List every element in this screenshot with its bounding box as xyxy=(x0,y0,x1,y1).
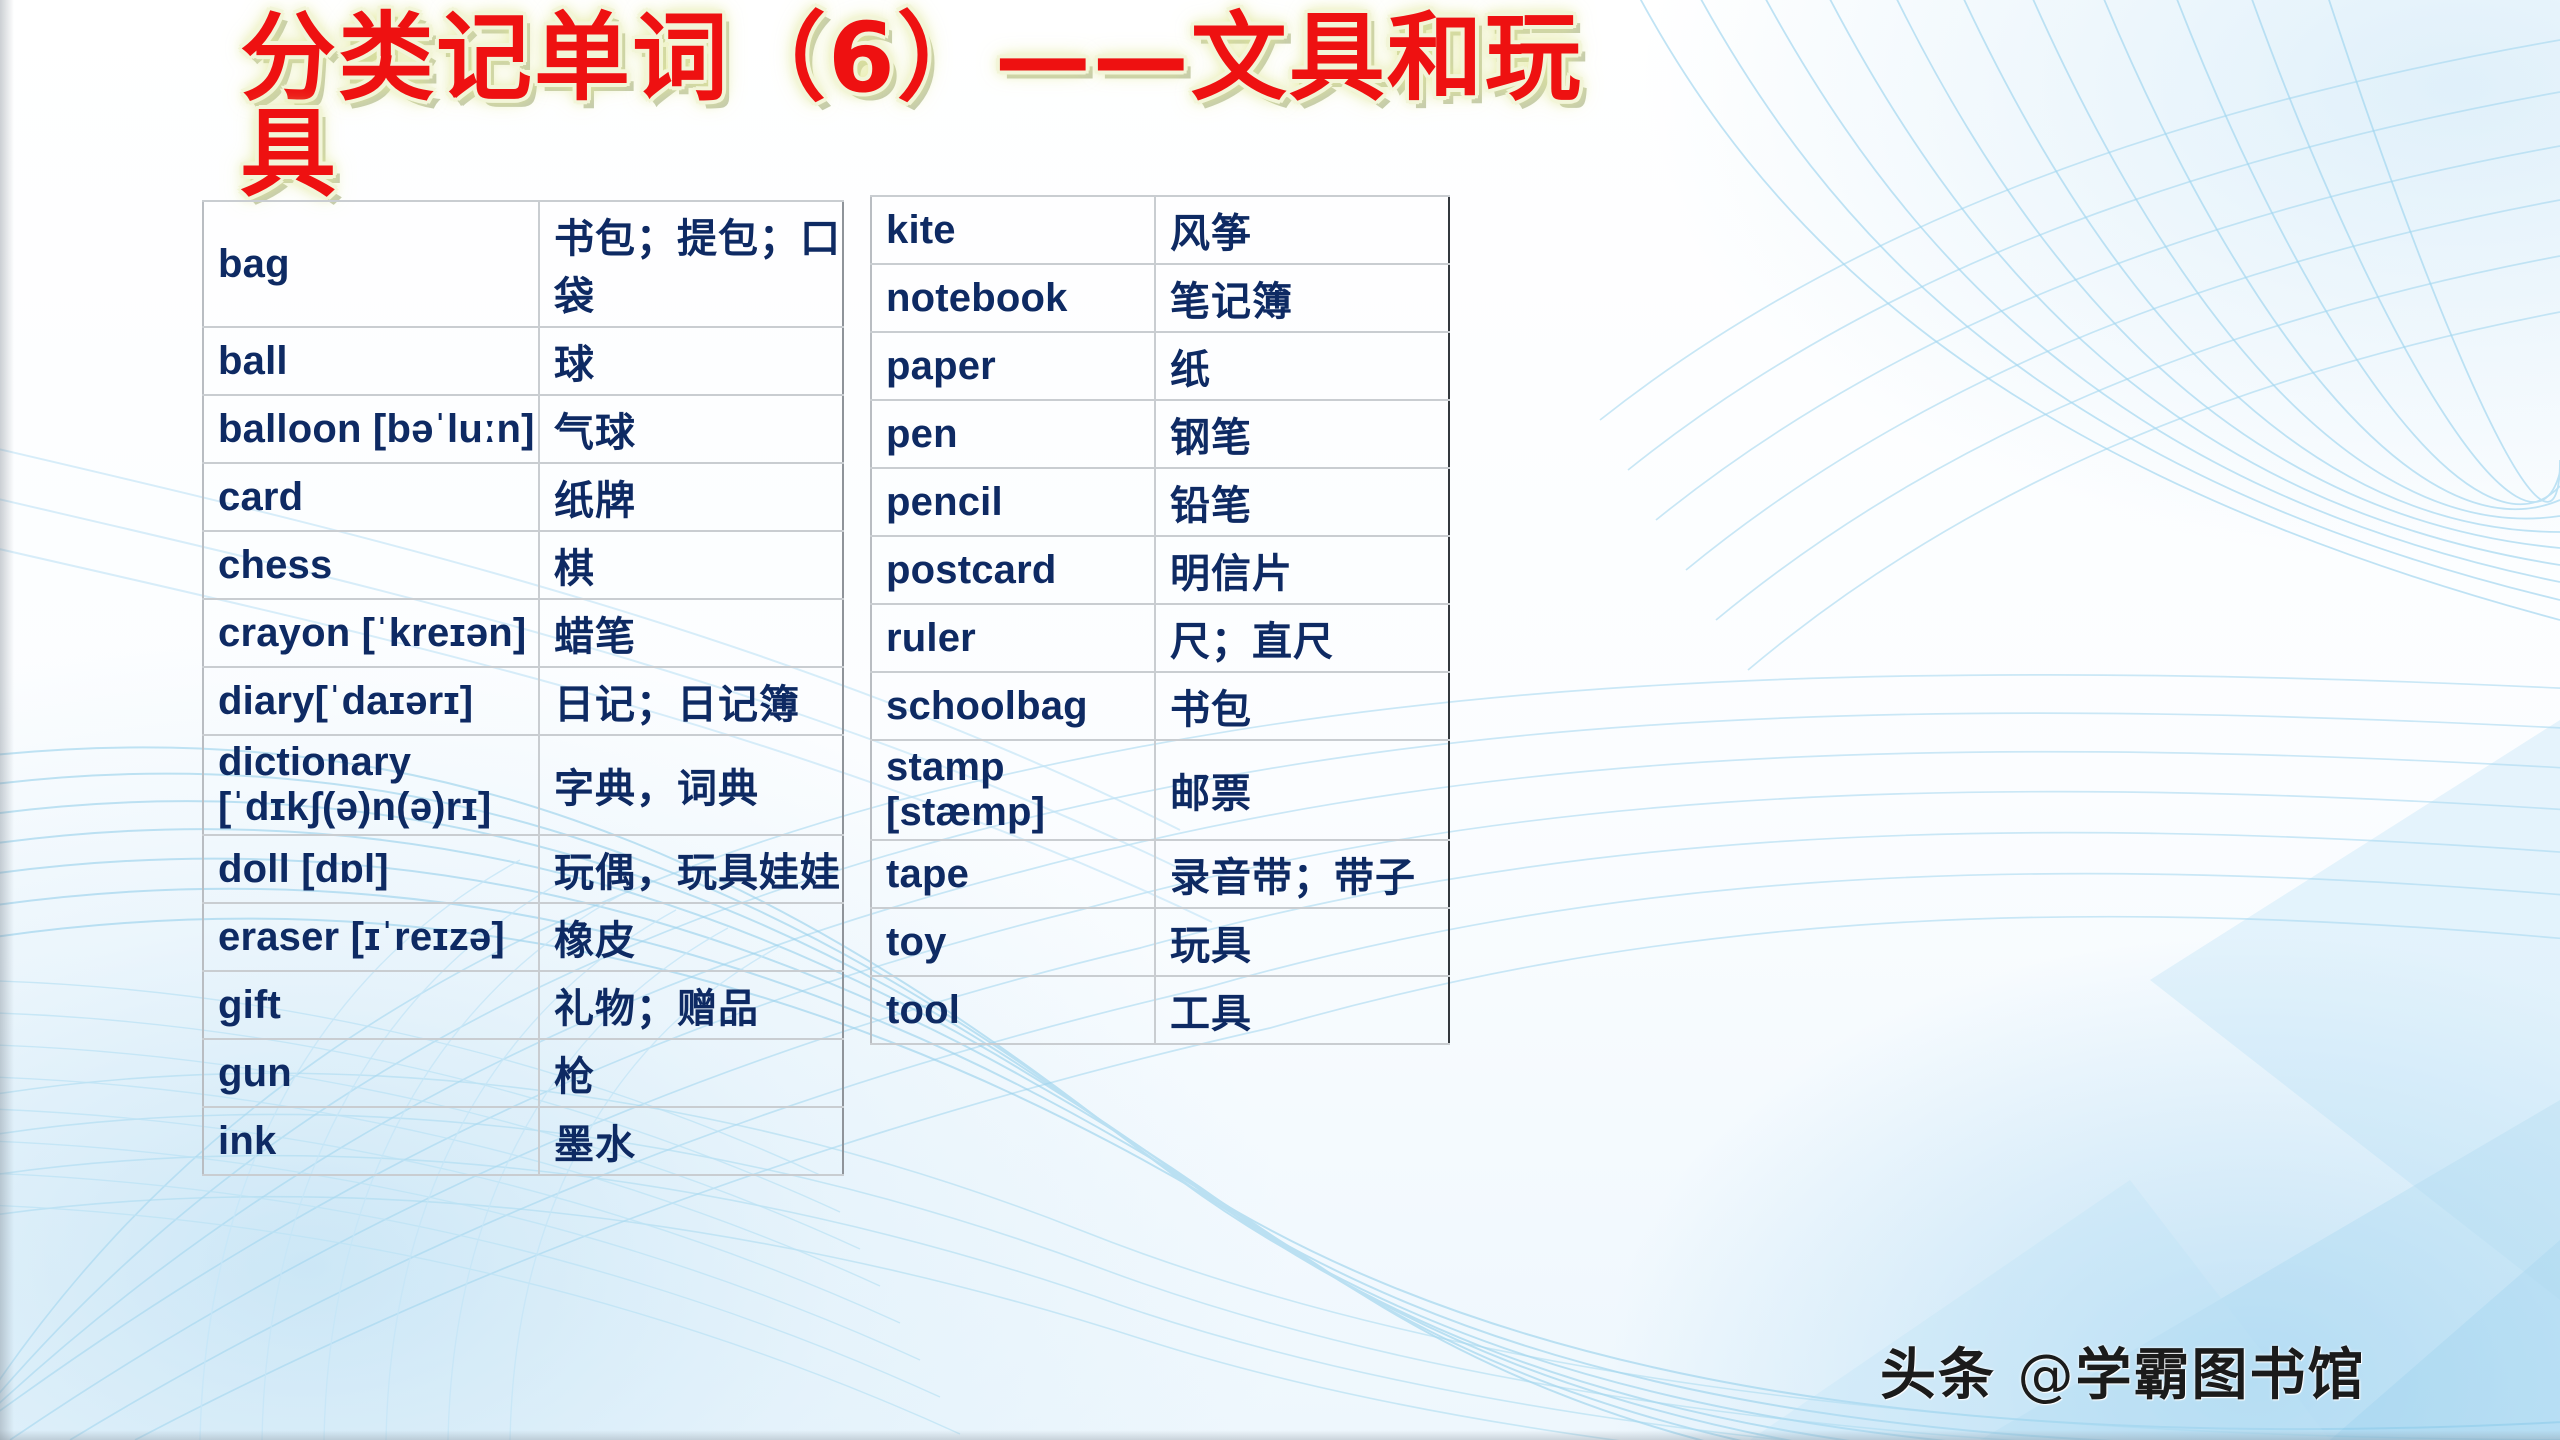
word-cell: balloon [bəˈluːn] xyxy=(203,395,539,463)
vocabulary-table-right: kite 风筝 notebook 笔记簿 paper 纸 pen 钢笔 penc… xyxy=(870,195,1450,1045)
meaning-cell: 日记；日记簿 xyxy=(539,667,843,735)
table-row: card 纸牌 xyxy=(203,463,843,531)
table-row: notebook 笔记簿 xyxy=(871,264,1449,332)
table-row: bag 书包；提包；口袋 xyxy=(203,201,843,327)
meaning-cell: 工具 xyxy=(1155,976,1449,1044)
meaning-cell: 蜡笔 xyxy=(539,599,843,667)
table-row: chess 棋 xyxy=(203,531,843,599)
table-row: tool 工具 xyxy=(871,976,1449,1044)
meaning-cell: 录音带；带子 xyxy=(1155,840,1449,908)
watermark-account: 学霸图书馆 xyxy=(2076,1343,2366,1408)
word-cell: postcard xyxy=(871,536,1155,604)
meaning-cell: 书包；提包；口袋 xyxy=(539,201,843,327)
word-cell: gift xyxy=(203,971,539,1039)
table-row: diary[ˈdaɪərɪ] 日记；日记簿 xyxy=(203,667,843,735)
word-cell: schoolbag xyxy=(871,672,1155,740)
table-row: tape 录音带；带子 xyxy=(871,840,1449,908)
word-cell: stamp [stæmp] xyxy=(871,740,1155,840)
table-row: toy 玩具 xyxy=(871,908,1449,976)
table-row: stamp [stæmp] 邮票 xyxy=(871,740,1449,840)
word-cell: notebook xyxy=(871,264,1155,332)
bottom-edge-shadow xyxy=(0,1430,2560,1440)
word-cell: bag xyxy=(203,201,539,327)
meaning-cell: 纸牌 xyxy=(539,463,843,531)
meaning-cell: 尺；直尺 xyxy=(1155,604,1449,672)
word-cell: kite xyxy=(871,196,1155,264)
meaning-cell: 书包 xyxy=(1155,672,1449,740)
word-cell: dictionary [ˈdɪkʃ(ə)n(ə)rɪ] xyxy=(203,735,539,835)
table-row: crayon [ˈkreɪən] 蜡笔 xyxy=(203,599,843,667)
table-row: gift 礼物；赠品 xyxy=(203,971,843,1039)
word-cell: crayon [ˈkreɪən] xyxy=(203,599,539,667)
meaning-cell: 棋 xyxy=(539,531,843,599)
left-table-body: bag 书包；提包；口袋 ball 球 balloon [bəˈluːn] 气球… xyxy=(203,201,843,1175)
word-cell: tape xyxy=(871,840,1155,908)
table-row: kite 风筝 xyxy=(871,196,1449,264)
watermark: 头条 @学霸图书馆 xyxy=(1880,1330,2366,1411)
table-row: dictionary [ˈdɪkʃ(ə)n(ə)rɪ] 字典，词典 xyxy=(203,735,843,835)
word-cell: toy xyxy=(871,908,1155,976)
table-row: gun 枪 xyxy=(203,1039,843,1107)
left-edge-shadow xyxy=(0,0,14,1440)
meaning-cell: 气球 xyxy=(539,395,843,463)
word-cell: paper xyxy=(871,332,1155,400)
meaning-cell: 纸 xyxy=(1155,332,1449,400)
word-cell: ball xyxy=(203,327,539,395)
meaning-cell: 铅笔 xyxy=(1155,468,1449,536)
word-cell: chess xyxy=(203,531,539,599)
table-row: postcard 明信片 xyxy=(871,536,1449,604)
meaning-cell: 邮票 xyxy=(1155,740,1449,840)
word-cell: pen xyxy=(871,400,1155,468)
meaning-cell: 玩偶，玩具娃娃 xyxy=(539,835,843,903)
meaning-cell: 笔记簿 xyxy=(1155,264,1449,332)
table-row: ink 墨水 xyxy=(203,1107,843,1175)
watermark-at-symbol: @ xyxy=(2018,1343,2076,1408)
vocabulary-table-left: bag 书包；提包；口袋 ball 球 balloon [bəˈluːn] 气球… xyxy=(202,200,844,1176)
slide-canvas: 分类记单词（6）——文具和玩 具 bag 书包；提包；口袋 ball 球 bal… xyxy=(0,0,2560,1440)
word-cell: diary[ˈdaɪərɪ] xyxy=(203,667,539,735)
meaning-cell: 字典，词典 xyxy=(539,735,843,835)
table-row: schoolbag 书包 xyxy=(871,672,1449,740)
table-row: ruler 尺；直尺 xyxy=(871,604,1449,672)
table-row: pen 钢笔 xyxy=(871,400,1449,468)
word-cell: eraser [ɪˈreɪzə] xyxy=(203,903,539,971)
word-cell: tool xyxy=(871,976,1155,1044)
table-row: pencil 铅笔 xyxy=(871,468,1449,536)
watermark-prefix: 头条 xyxy=(1880,1343,2018,1408)
word-cell: ruler xyxy=(871,604,1155,672)
meaning-cell: 玩具 xyxy=(1155,908,1449,976)
meaning-cell: 球 xyxy=(539,327,843,395)
right-table-body: kite 风筝 notebook 笔记簿 paper 纸 pen 钢笔 penc… xyxy=(871,196,1449,1044)
word-cell: card xyxy=(203,463,539,531)
table-row: eraser [ɪˈreɪzə] 橡皮 xyxy=(203,903,843,971)
meaning-cell: 礼物；赠品 xyxy=(539,971,843,1039)
table-row: ball 球 xyxy=(203,327,843,395)
meaning-cell: 枪 xyxy=(539,1039,843,1107)
table-row: paper 纸 xyxy=(871,332,1449,400)
table-row: balloon [bəˈluːn] 气球 xyxy=(203,395,843,463)
meaning-cell: 明信片 xyxy=(1155,536,1449,604)
word-cell: ink xyxy=(203,1107,539,1175)
word-cell: gun xyxy=(203,1039,539,1107)
meaning-cell: 钢笔 xyxy=(1155,400,1449,468)
word-cell: doll [dɒl] xyxy=(203,835,539,903)
meaning-cell: 风筝 xyxy=(1155,196,1449,264)
meaning-cell: 墨水 xyxy=(539,1107,843,1175)
meaning-cell: 橡皮 xyxy=(539,903,843,971)
table-row: doll [dɒl] 玩偶，玩具娃娃 xyxy=(203,835,843,903)
word-cell: pencil xyxy=(871,468,1155,536)
